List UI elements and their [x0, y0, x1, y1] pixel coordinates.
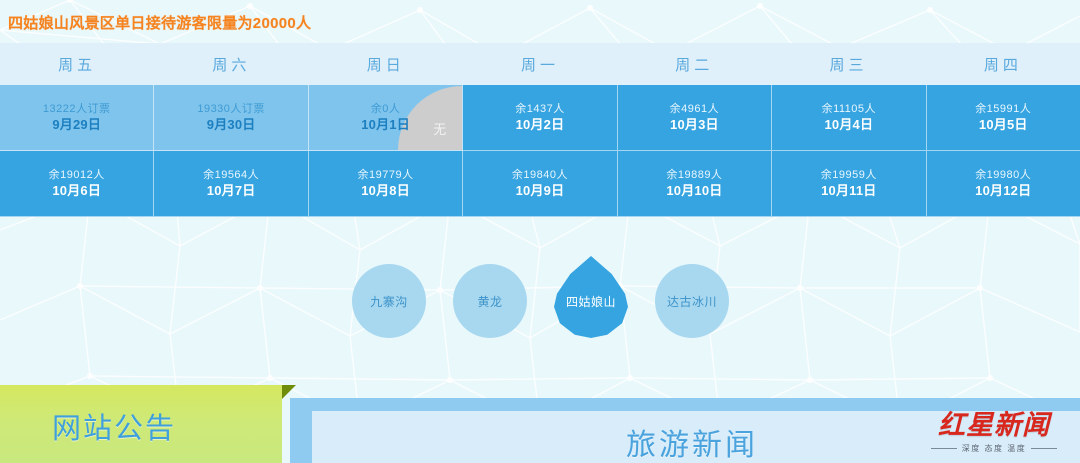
calendar-weekday-4: 周一 [463, 43, 617, 85]
day-date: 10月5日 [979, 117, 1028, 133]
remaining-tickets: 余4961人 [670, 102, 719, 117]
day-date: 10月12日 [975, 183, 1031, 199]
remaining-tickets: 余19889人 [666, 168, 722, 183]
day-date: 10月4日 [824, 117, 873, 133]
day-date: 10月9日 [516, 183, 565, 199]
day-date: 10月2日 [516, 117, 565, 133]
calendar-day-cell[interactable]: 余19012人10月6日 [0, 151, 154, 217]
day-date: 10月11日 [821, 183, 876, 199]
day-date: 10月3日 [670, 117, 719, 133]
day-date: 9月30日 [207, 117, 256, 133]
remaining-tickets: 余0人 [371, 102, 401, 117]
scenic-spot-item[interactable]: 黄龙 [453, 264, 527, 338]
calendar-day-cell[interactable]: 余19959人10月11日 [772, 151, 926, 217]
logo-brand-text: 红星新闻 [938, 410, 1050, 440]
logo-tagline: 深度 态度 温度 [962, 443, 1026, 454]
scenic-spot-item[interactable]: 九寨沟 [352, 264, 426, 338]
scenic-spot-label: 黄龙 [477, 293, 502, 310]
calendar-day-cell[interactable]: 无余0人10月1日 [309, 85, 463, 151]
remaining-tickets: 余19564人 [203, 168, 259, 183]
calendar-day-cell[interactable]: 13222人订票9月29日 [0, 85, 154, 151]
scenic-spot-label: 九寨沟 [370, 293, 408, 310]
calendar-weekday-6: 周三 [771, 43, 925, 85]
logo-rule-right [1031, 448, 1057, 449]
calendar-weekday-3: 周日 [309, 43, 463, 85]
calendar-day-cell[interactable]: 余4961人10月3日 [618, 85, 772, 151]
notice-banner-fold-corner [282, 385, 296, 399]
calendar-weekday-5: 周二 [617, 43, 771, 85]
calendar-day-cell[interactable]: 余19889人10月10日 [618, 151, 772, 217]
calendar-weekday-1: 周五 [0, 43, 154, 85]
availability-calendar: 周五周六周日周一周二周三周四 13222人订票9月29日19330人订票9月30… [0, 43, 1080, 217]
page-root: 四姑娘山风景区单日接待游客限量为20000人 周五周六周日周一周二周三周四 13… [0, 0, 1080, 463]
calendar-day-cell[interactable]: 余19564人10月7日 [154, 151, 308, 217]
remaining-tickets: 余11105人 [822, 102, 876, 117]
day-date: 9月29日 [52, 117, 101, 133]
logo-rule-left [931, 448, 957, 449]
calendar-day-cell[interactable]: 余1437人10月2日 [463, 85, 617, 151]
remaining-tickets: 余19779人 [358, 168, 414, 183]
calendar-weekday-2: 周六 [154, 43, 308, 85]
page-title: 四姑娘山风景区单日接待游客限量为20000人 [8, 12, 311, 33]
calendar-day-cell[interactable]: 余15991人10月5日 [927, 85, 1080, 151]
scenic-spot-selector: 九寨沟黄龙四姑娘山达古冰川 [0, 256, 1080, 356]
calendar-day-cell[interactable]: 19330人订票9月30日 [154, 85, 308, 151]
calendar-day-cell[interactable]: 余19779人10月8日 [309, 151, 463, 217]
calendar-day-cell[interactable]: 余11105人10月4日 [772, 85, 926, 151]
day-date: 10月10日 [666, 183, 722, 199]
calendar-day-cell[interactable]: 余19840人10月9日 [463, 151, 617, 217]
calendar-body: 13222人订票9月29日19330人订票9月30日无余0人10月1日余1437… [0, 85, 1080, 217]
calendar-weekday-7: 周四 [926, 43, 1080, 85]
day-date: 10月7日 [207, 183, 256, 199]
remaining-tickets: 余19980人 [975, 168, 1031, 183]
scenic-spot-label: 四姑娘山 [566, 293, 616, 310]
website-notice-panel[interactable]: 网站公告 [0, 385, 282, 463]
day-date: 10月8日 [361, 183, 410, 199]
remaining-tickets: 余1437人 [515, 102, 564, 117]
scenic-spot-item[interactable]: 达古冰川 [655, 264, 729, 338]
red-star-news-logo: 红星新闻 深度 态度 温度 [914, 404, 1074, 460]
scenic-spot-item[interactable]: 四姑娘山 [554, 256, 628, 338]
remaining-tickets: 余19959人 [821, 168, 877, 183]
scenic-spot-label: 达古冰川 [667, 293, 717, 310]
soldout-label: 无 [433, 119, 446, 138]
logo-tagline-wrap: 深度 态度 温度 [931, 443, 1057, 454]
remaining-tickets: 余19840人 [512, 168, 568, 183]
remaining-tickets: 余15991人 [975, 102, 1031, 117]
calendar-weekday-header: 周五周六周日周一周二周三周四 [0, 43, 1080, 85]
remaining-tickets: 13222人订票 [43, 102, 111, 117]
news-title: 旅游新闻 [626, 420, 758, 463]
remaining-tickets: 19330人订票 [197, 102, 265, 117]
calendar-day-cell[interactable]: 余19980人10月12日 [927, 151, 1080, 217]
day-date: 10月6日 [52, 183, 101, 199]
remaining-tickets: 余19012人 [49, 168, 105, 183]
day-date: 10月1日 [361, 117, 410, 133]
calendar-row: 余19012人10月6日余19564人10月7日余19779人10月8日余198… [0, 151, 1080, 217]
calendar-row: 13222人订票9月29日19330人订票9月30日无余0人10月1日余1437… [0, 85, 1080, 151]
notice-title: 网站公告 [52, 405, 176, 447]
